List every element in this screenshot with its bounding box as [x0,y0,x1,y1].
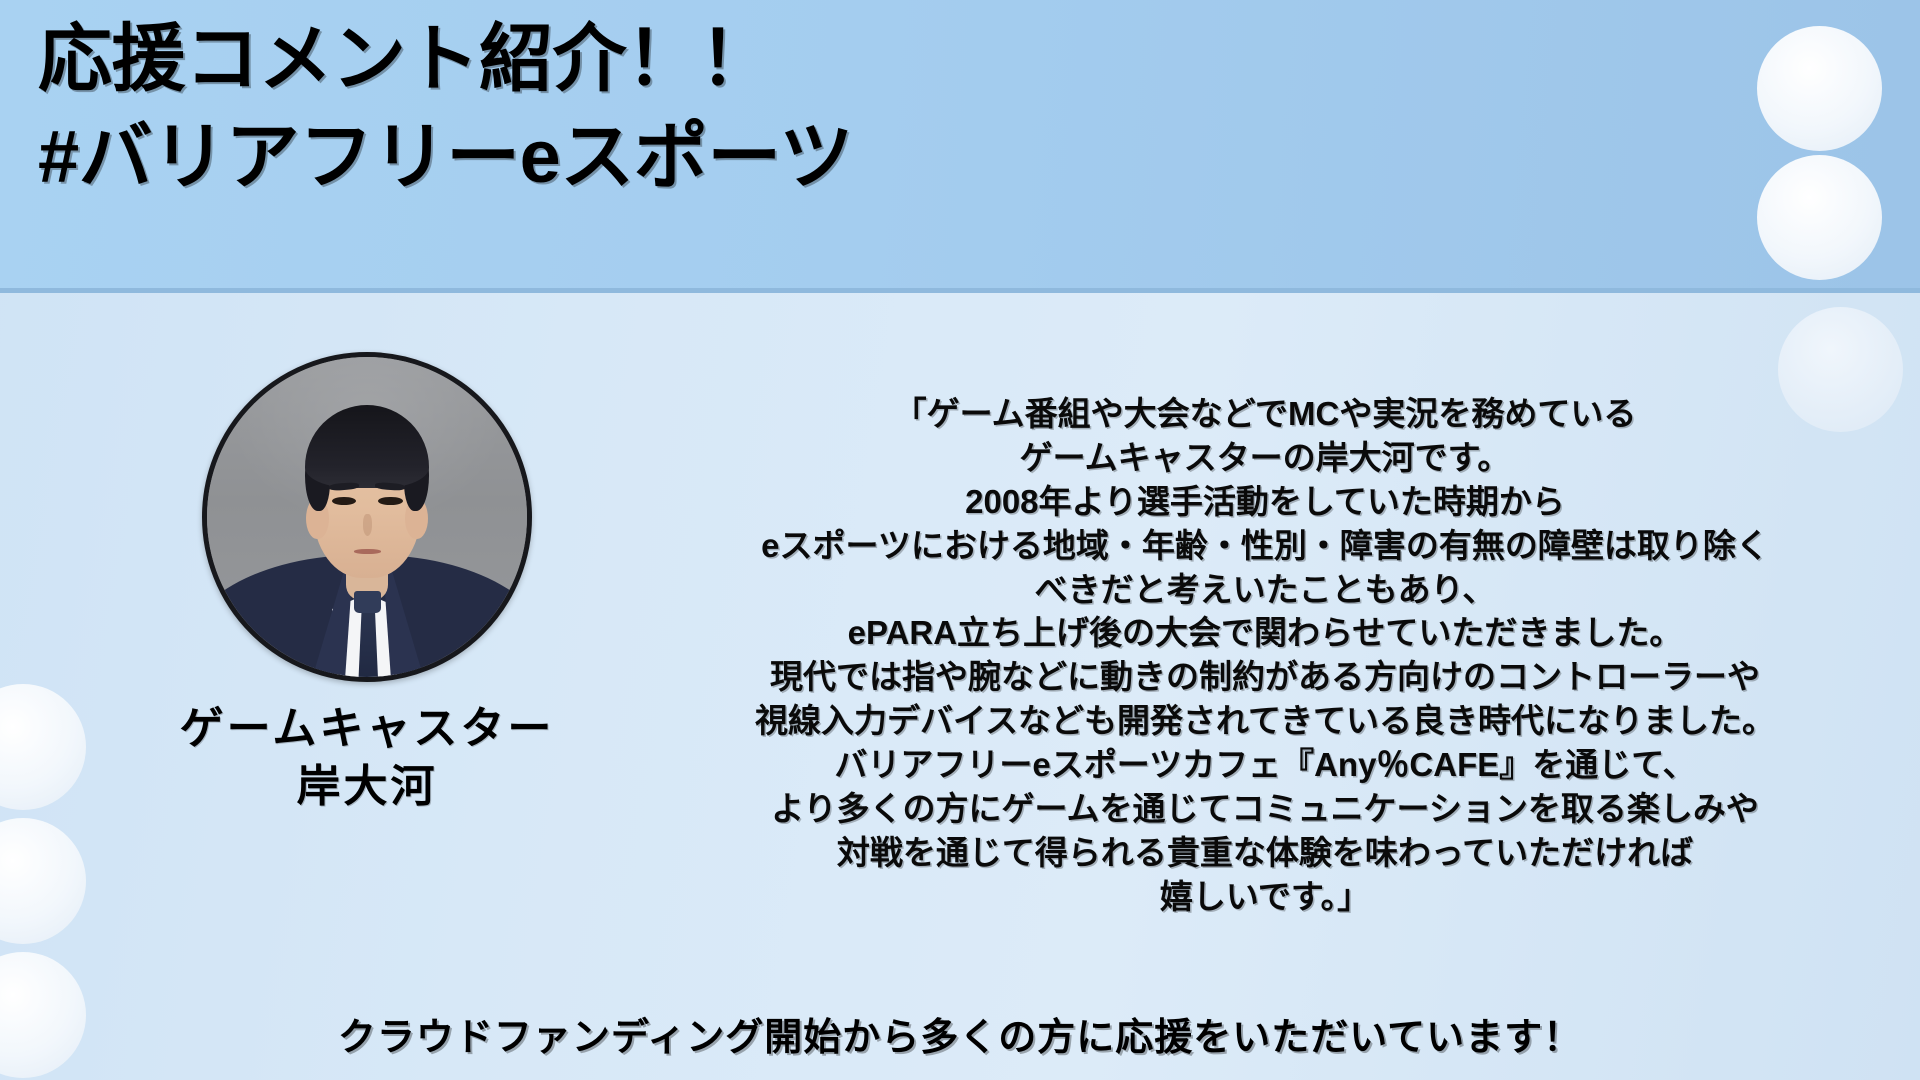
decorative-circle-left-2 [0,818,86,944]
decorative-circle-left-1 [0,684,86,810]
avatar [202,352,532,682]
footer-note: クラウドファンディング開始から多くの方に応援をいただいています！ [0,1006,1920,1061]
nose-shape [363,514,373,536]
header-divider-rule [0,288,1920,293]
hair-shape [305,405,430,488]
slide-canvas: 応援コメント紹介！！ #バリアフリーeスポーツ [0,0,1920,1080]
portrait-block: ゲームキャスター 岸大河 [152,352,582,816]
portrait-photo [207,357,527,677]
decorative-circle-top-right-1 [1757,26,1882,151]
page-title: 応援コメント紹介！！ #バリアフリーeスポーツ [38,10,1378,207]
eye-left [332,497,356,505]
comment-text: 「ゲーム番組や大会などでMCや実況を務めている ゲームキャスターの岸大河です。 … [640,392,1890,919]
necktie-knot [354,591,381,613]
decorative-circle-top-right-2 [1757,155,1882,280]
portrait-caption: ゲームキャスター 岸大河 [152,700,582,816]
header-band: 応援コメント紹介！！ #バリアフリーeスポーツ [0,0,1920,288]
mouth-shape [354,549,381,554]
eye-right [378,497,402,505]
